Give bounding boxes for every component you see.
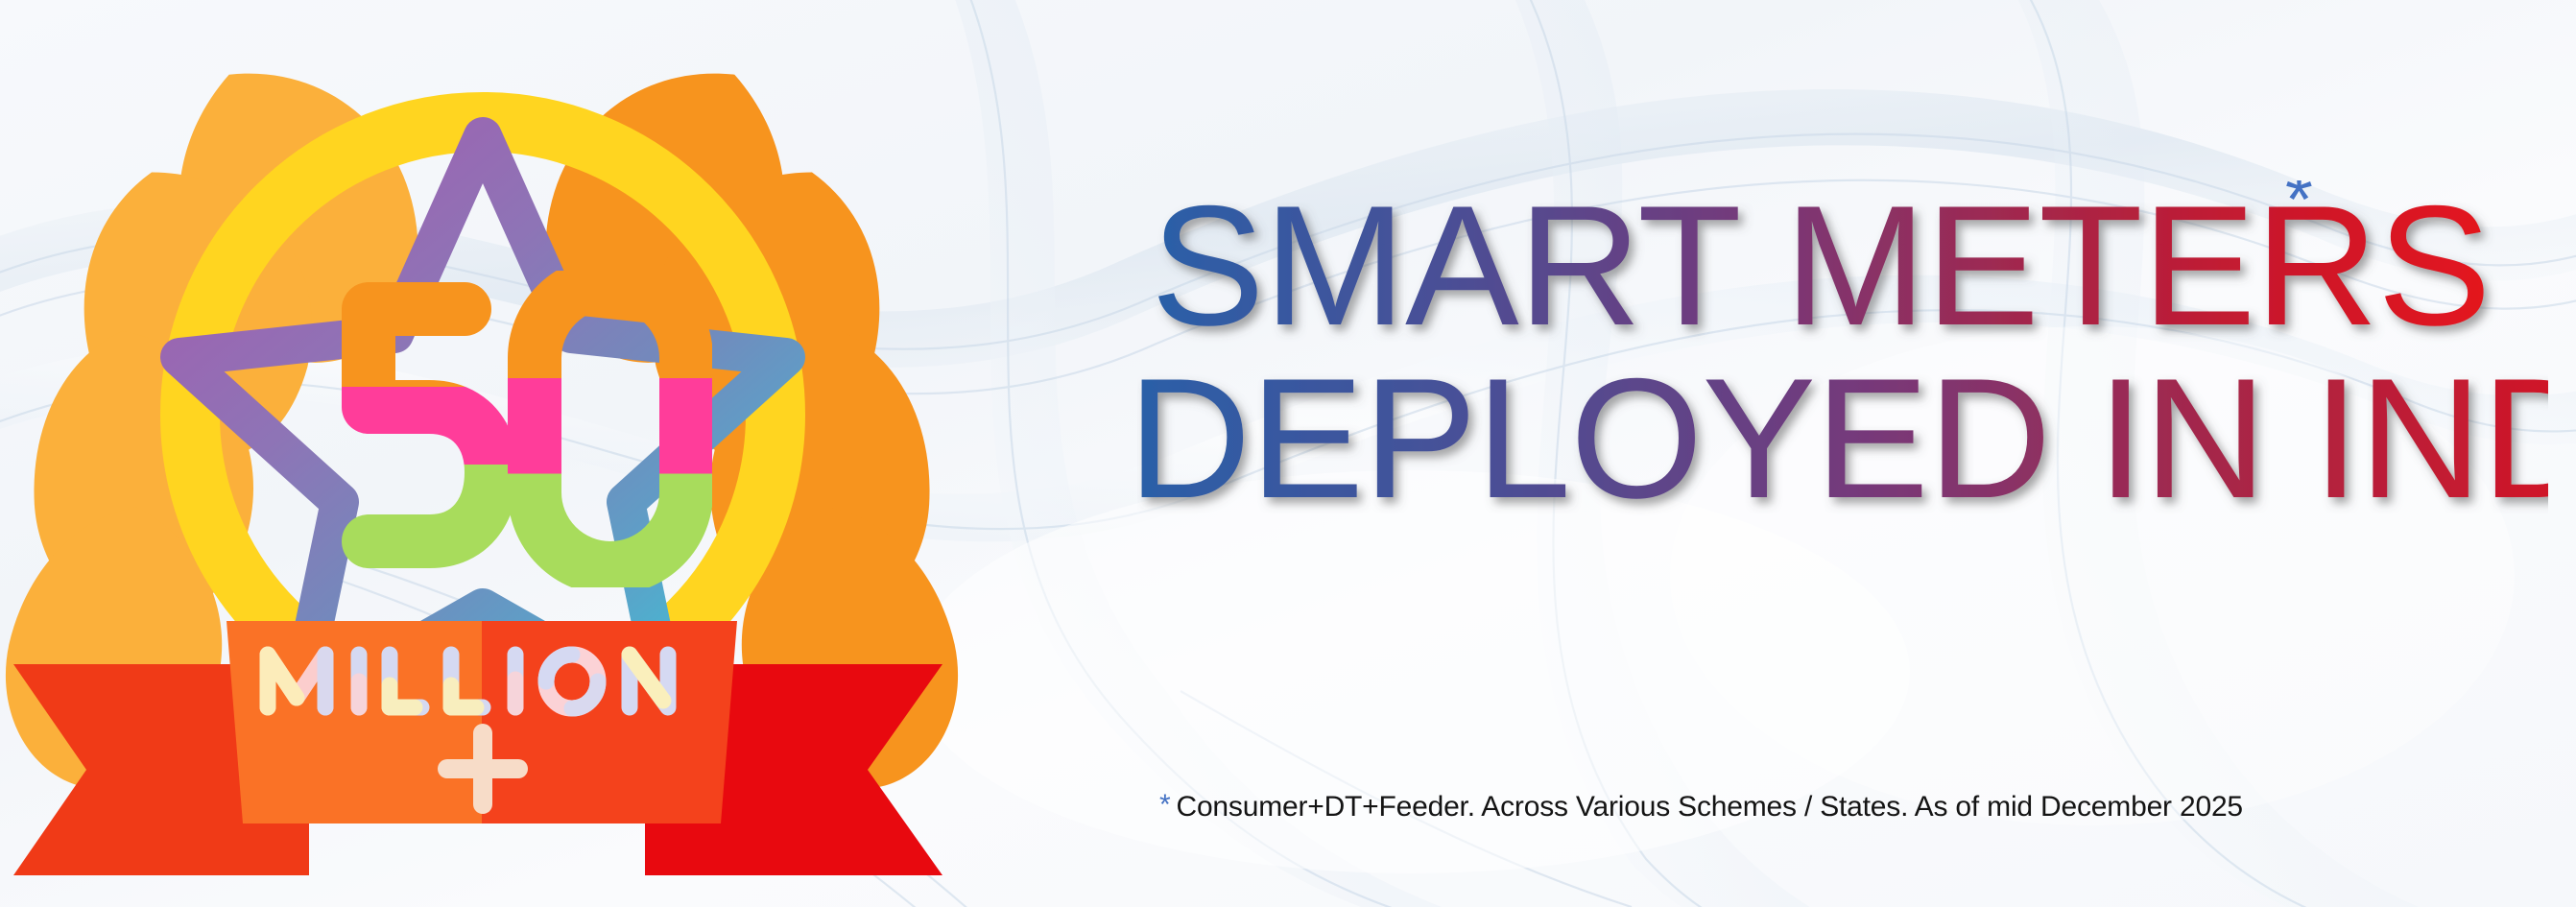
- headline-line-2: DEPLOYED IN INDIA: [1137, 343, 2548, 534]
- headline-superscript-asterisk: *: [2285, 180, 2313, 239]
- achievement-badge: [0, 0, 971, 907]
- milestone-banner: SMART METERS DEPLOYED IN INDIA * *Consum…: [0, 0, 2576, 907]
- digit-five: [369, 309, 491, 541]
- footnote: *Consumer+DT+Feeder. Across Various Sche…: [1159, 787, 2243, 825]
- headline-graphic: SMART METERS DEPLOYED IN INDIA *: [1137, 180, 2548, 584]
- footnote-text: Consumer+DT+Feeder. Across Various Schem…: [1176, 791, 2242, 823]
- footnote-asterisk-marker: *: [1159, 789, 1170, 821]
- headline-text-group: SMART METERS DEPLOYED IN INDIA: [1137, 180, 2548, 534]
- headline-block: SMART METERS DEPLOYED IN INDIA *: [1137, 180, 2548, 584]
- badge-graphic: [0, 0, 971, 907]
